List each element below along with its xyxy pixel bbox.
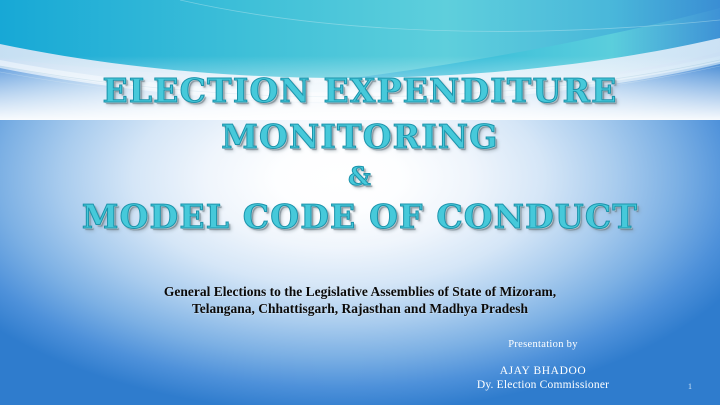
slide-subtitle: General Elections to the Legislative Ass… <box>60 283 660 317</box>
presenter-spacer <box>428 352 658 364</box>
slide-page-number: 1 <box>688 382 692 391</box>
presenter-role: Dy. Election Commissioner <box>428 378 658 392</box>
title-line-ampersand: & <box>0 160 720 194</box>
ribbon-hairline-3 <box>180 0 720 31</box>
subtitle-line-1: General Elections to the Legislative Ass… <box>60 283 660 300</box>
slide-title: ELECTION EXPENDITURE MONITORING & MODEL … <box>0 68 720 240</box>
presenter-name: AJAY BHADOO <box>428 364 658 378</box>
presenter-block: Presentation by AJAY BHADOO Dy. Election… <box>428 338 658 392</box>
presentation-by-label: Presentation by <box>428 338 658 352</box>
title-line-2: MONITORING <box>0 114 720 160</box>
subtitle-line-2: Telangana, Chhattisgarh, Rajasthan and M… <box>60 300 660 317</box>
title-line-1: ELECTION EXPENDITURE <box>0 68 720 114</box>
presentation-slide: ELECTION EXPENDITURE MONITORING & MODEL … <box>0 0 720 405</box>
title-line-3: MODEL CODE OF CONDUCT <box>0 194 720 240</box>
